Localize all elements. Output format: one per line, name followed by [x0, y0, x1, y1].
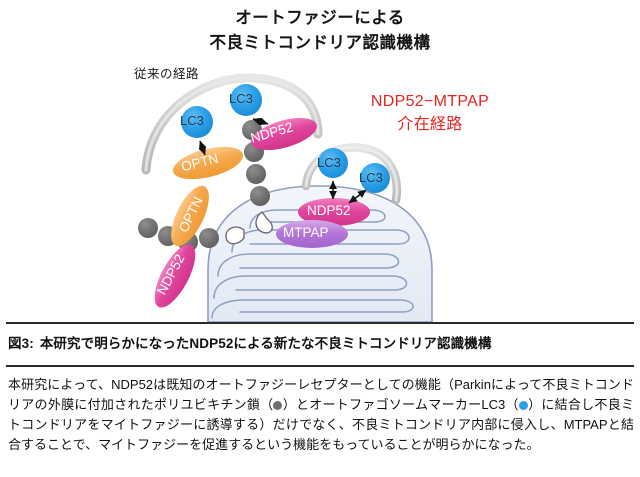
figure-number: 図3:: [8, 336, 34, 351]
ubiquitin-bead: [199, 228, 219, 248]
caption-divider-top: [6, 322, 634, 324]
figure-title: オートファジーによる 不良ミトコンドリア認識機構: [0, 6, 640, 56]
caption-divider-bottom: [6, 365, 634, 367]
caption-body: 本研究によって、NDP52は既知のオートファジーレセプターとしての機能（Park…: [8, 375, 634, 456]
lc3-circle-left-upper: [230, 84, 262, 116]
membrane-anchor-lower: [226, 227, 244, 244]
red-annotation-line2: 介在経路: [340, 113, 520, 136]
figure-title-line1: オートファジーによる: [235, 9, 405, 27]
caption-heading: 図3:本研究で明らかになったNDP52による新たな不良ミトコンドリア認識機構: [8, 332, 636, 352]
optn-upper-ellipse: [170, 141, 247, 186]
figure-title-line2: 不良ミトコンドリア認識機構: [0, 31, 640, 56]
caption-heading-text: 本研究で明らかになったNDP52による新たな不良ミトコンドリア認識機構: [40, 336, 492, 351]
ubiquitin-bead: [250, 186, 270, 206]
ndp52-mtpap-pathway-annotation: NDP52−MTPAP 介在経路: [340, 90, 520, 136]
lc3-legend-dot-icon: [519, 401, 528, 410]
mtpap-ellipse: [276, 220, 348, 248]
figure-panel: オートファジーによる 不良ミトコンドリア認識機構 従来の経路 NDP52−MTP…: [0, 0, 640, 322]
ubiquitin-bead: [138, 218, 158, 238]
ubiquitin-bead: [246, 164, 266, 184]
lc3-circle-right-upper: [318, 148, 348, 178]
caption-body-part2: ）とオートファゴソームマーカーLC3（: [282, 397, 518, 412]
conventional-pathway-label: 従来の経路: [134, 63, 199, 82]
red-annotation-line1: NDP52−MTPAP: [371, 93, 489, 110]
lc3-circle-left-lower: [181, 106, 213, 138]
ndp52-lower-ellipse: [147, 239, 204, 313]
lc3-circle-right-lower: [360, 163, 390, 193]
